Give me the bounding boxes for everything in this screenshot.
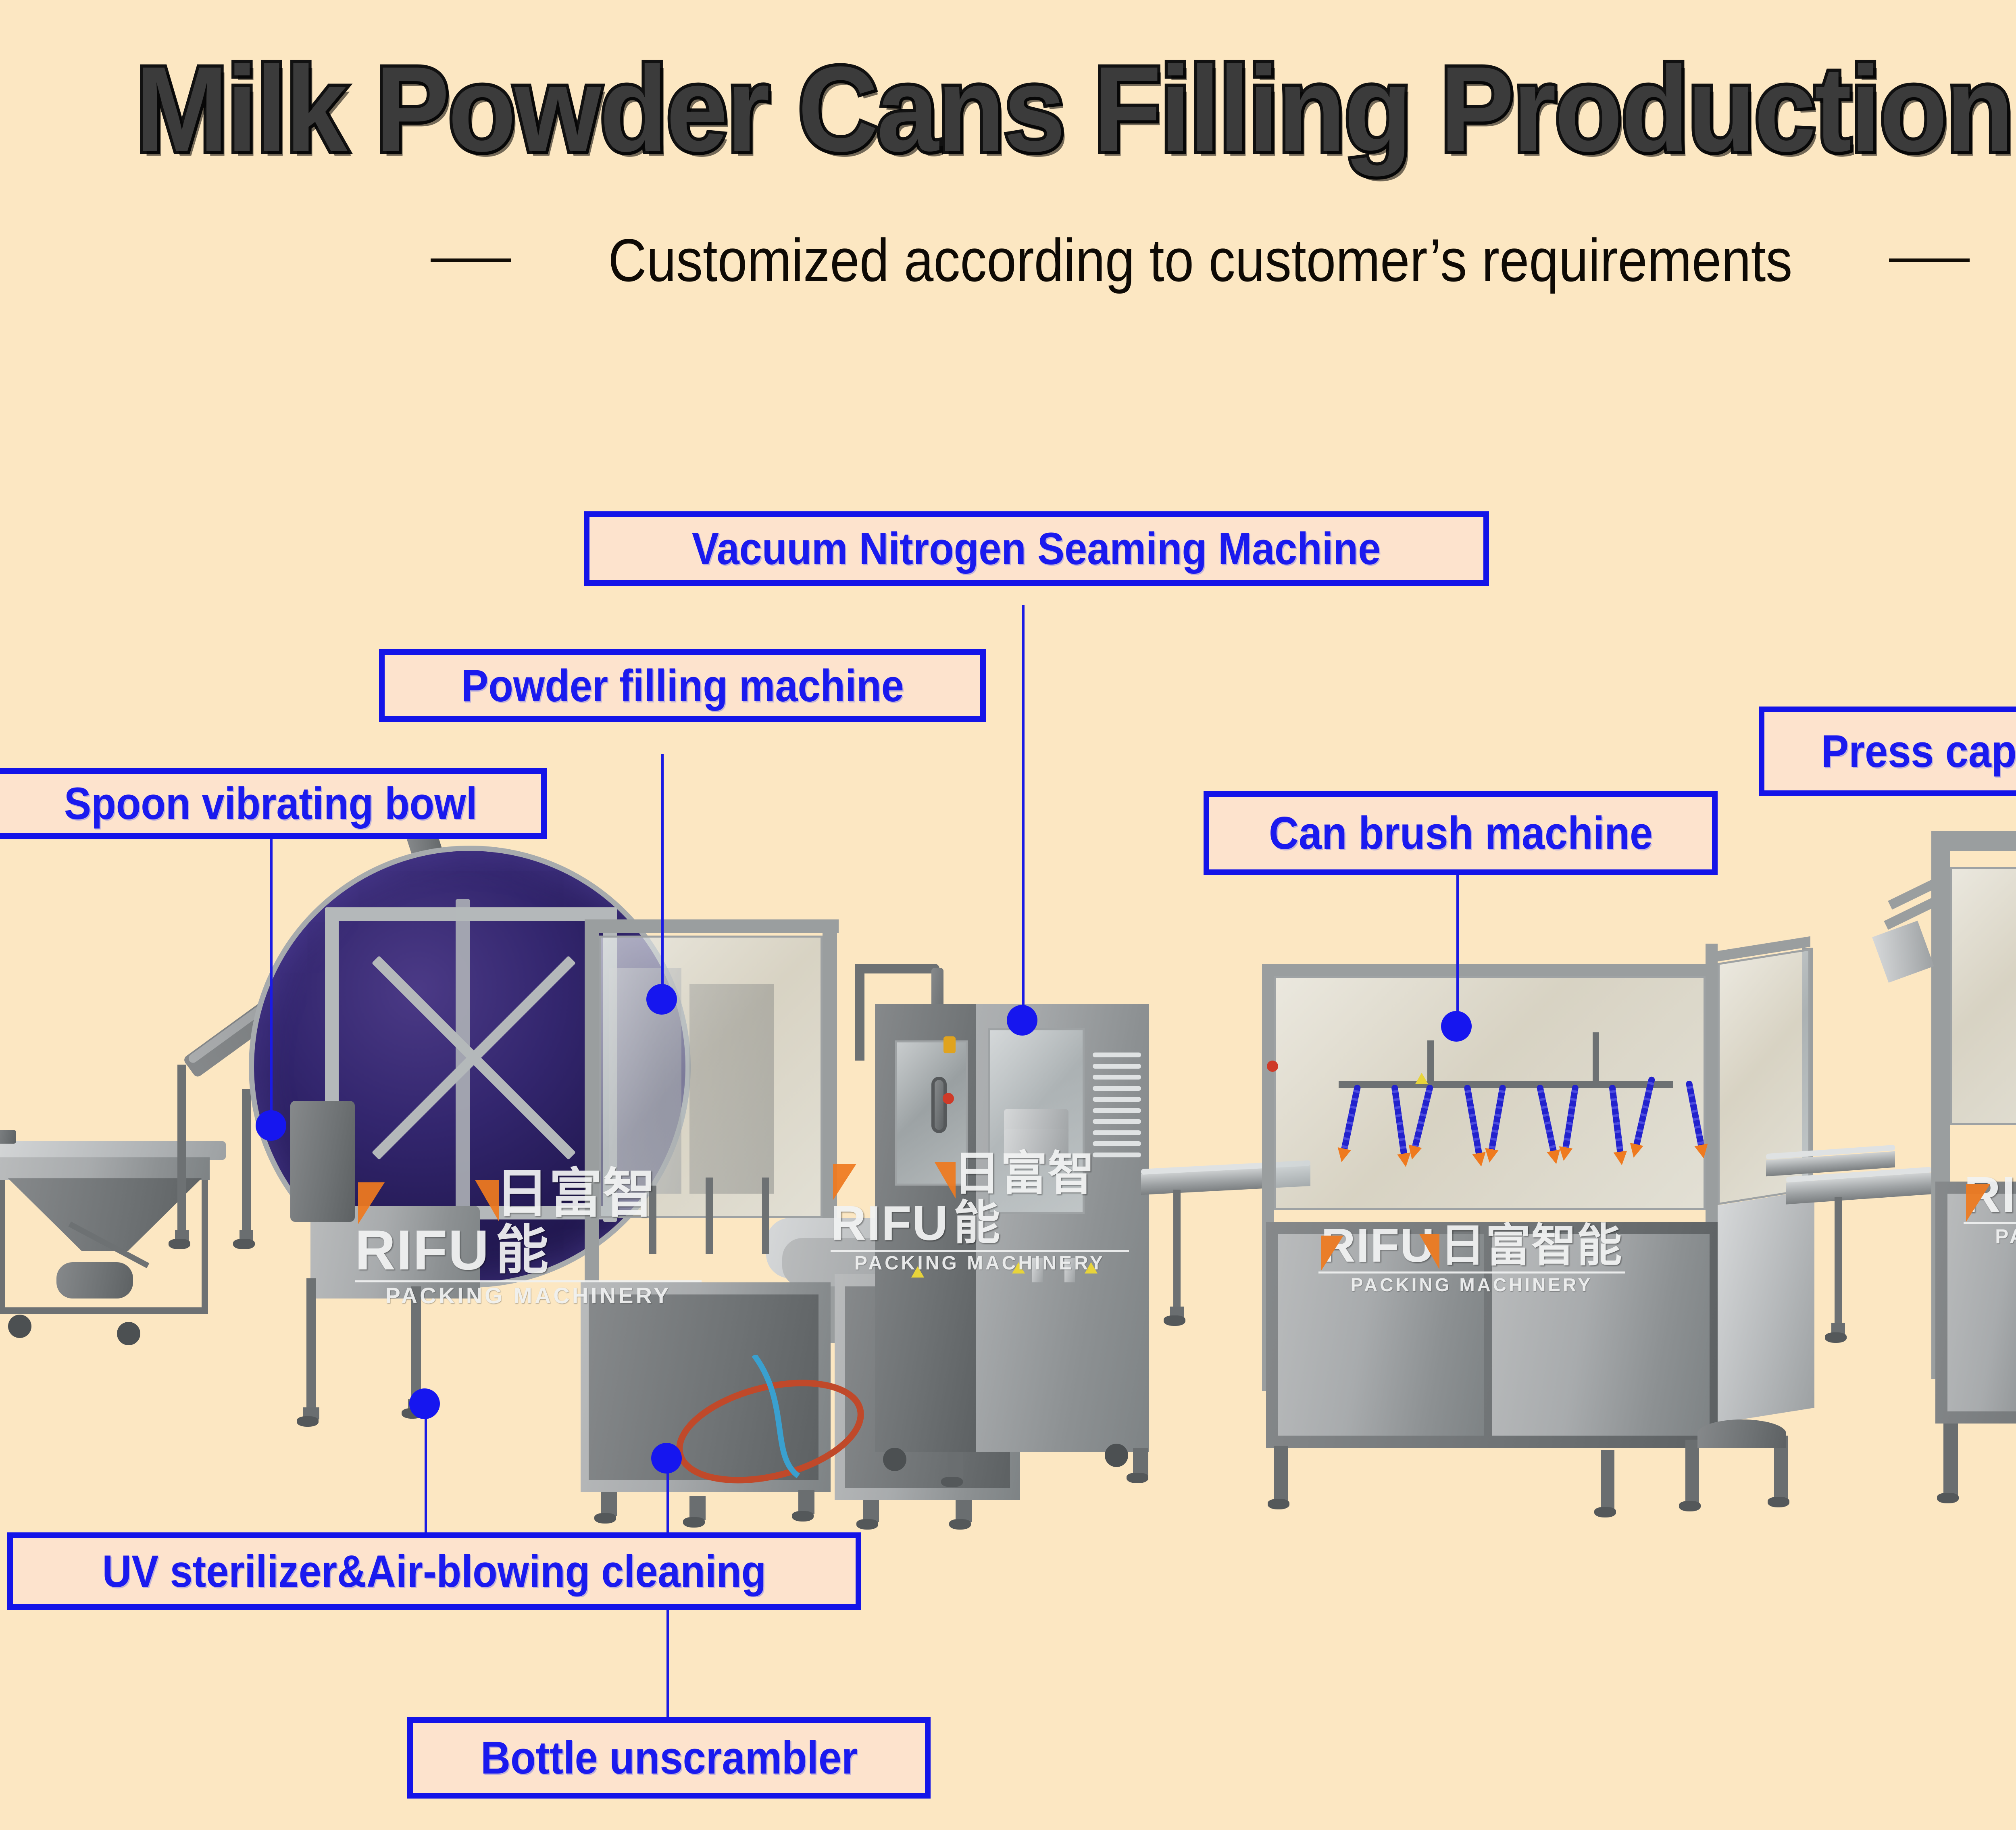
subtitle-dash-right [1889, 258, 1970, 262]
machine-vacuum-nitrogen-seaming [851, 980, 1169, 1504]
callout-dot-vacuum-nitrogen-seaming[interactable] [1007, 1005, 1037, 1036]
subtitle-row: Customized according to customer’s requi… [0, 230, 2016, 290]
callout-label: Vacuum Nitrogen Seaming Machine [692, 523, 1381, 575]
callout-bottle-unscrambler[interactable]: Bottle unscrambler [407, 1717, 931, 1799]
warning-triangle-icon [1415, 1073, 1428, 1084]
warning-triangle-icon [1012, 1262, 1025, 1273]
callout-label: Press capping machine [1821, 725, 2016, 778]
page-subtitle: Customized according to customer’s requi… [608, 230, 1792, 290]
callout-press-capping-machine[interactable]: Press capping machine [1759, 707, 2016, 796]
callout-powder-filling-machine[interactable]: Powder filling machine [379, 649, 986, 722]
leader-line-spoon-vibrating-bowl [270, 831, 273, 1129]
callout-can-brush-machine[interactable]: Can brush machine [1204, 791, 1718, 875]
callout-uv-sterilizer[interactable]: UV sterilizer&Air-blowing cleaning [7, 1532, 861, 1610]
callout-label: UV sterilizer&Air-blowing cleaning [102, 1545, 766, 1597]
callout-vacuum-nitrogen-seaming[interactable]: Vacuum Nitrogen Seaming Machine [584, 511, 1489, 586]
callout-dot-uv-sterilizer[interactable] [409, 1388, 440, 1419]
callout-label: Bottle unscrambler [480, 1732, 857, 1784]
callout-label: Can brush machine [1268, 807, 1652, 860]
brush-nozzle-array [1339, 1073, 1702, 1194]
callout-dot-spoon-vibrating-bowl[interactable] [256, 1110, 286, 1141]
leader-line-powder-filling-machine [661, 754, 664, 1004]
callout-dot-powder-filling-machine[interactable] [646, 984, 677, 1015]
leader-line-can-brush-machine [1456, 873, 1459, 1030]
warning-triangle-icon [1085, 1262, 1098, 1273]
page-title: Milk Powder Cans Filling Production Line [96, 48, 2016, 169]
machine-press-capping [1871, 827, 2016, 1593]
callout-dot-bottle-unscrambler[interactable] [651, 1443, 682, 1474]
subtitle-dash-left [431, 258, 511, 262]
conveyor-right-exit [1766, 1149, 1895, 1198]
callout-label: Spoon vibrating bowl [64, 777, 477, 830]
callout-label: Powder filling machine [461, 660, 904, 712]
vent-louvres [1093, 1053, 1141, 1157]
poster-canvas: Milk Powder Cans Filling Production Line… [0, 0, 2016, 1830]
callout-spoon-vibrating-bowl[interactable]: Spoon vibrating bowl [0, 768, 547, 839]
machine-can-brush [1238, 940, 1867, 1569]
warning-triangle-icon [911, 1266, 924, 1278]
callout-dot-can-brush-machine[interactable] [1441, 1011, 1472, 1042]
leader-line-vacuum-nitrogen-seaming [1022, 605, 1025, 1024]
production-line-illustration: RIFU 日富智能 PACKING MACHINERY RIFU 日富智能 PA… [0, 766, 2016, 1830]
